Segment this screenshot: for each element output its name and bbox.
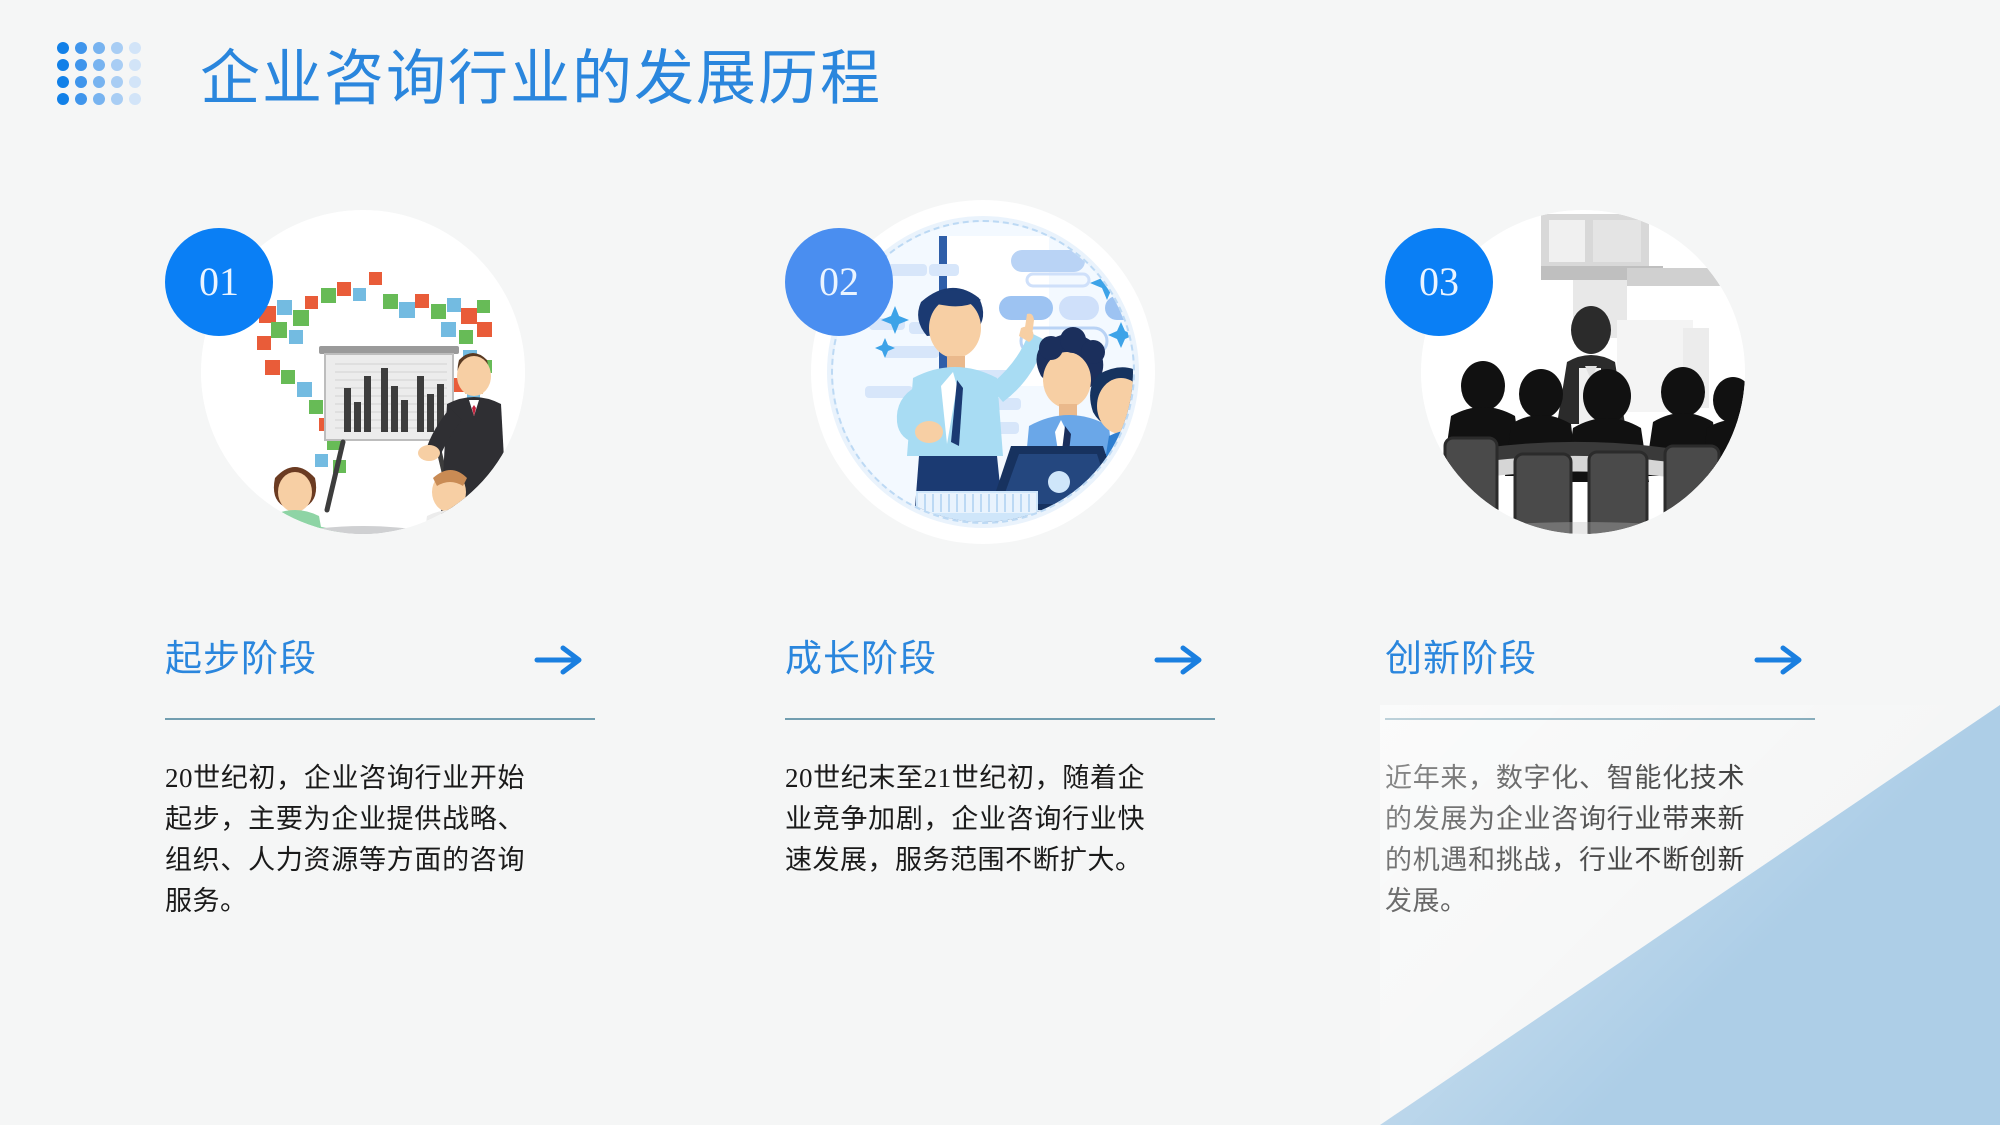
- card-title: 创新阶段: [1385, 637, 1537, 683]
- stage-card: 03 创新阶段 近年来，数字化、智能化技术的发展为企业咨询行业带来新的机遇和挑战…: [1385, 210, 1855, 922]
- card-media: 03: [1385, 210, 1745, 570]
- card-number-badge: 01: [165, 228, 273, 336]
- stage-card: 01 起步阶段 20世纪初，企业咨询行业开始起步，主要为企业提供战略、组织、人力…: [165, 210, 635, 922]
- page-title: 企业咨询行业的发展历程: [200, 44, 882, 114]
- card-title-row: 成长阶段: [785, 632, 1205, 688]
- arrow-right-icon[interactable]: [533, 643, 585, 677]
- card-divider: [785, 718, 1215, 720]
- arrow-right-icon[interactable]: [1153, 643, 1205, 677]
- card-divider: [165, 718, 595, 720]
- dot-grid-decoration: [57, 42, 147, 110]
- card-number-badge: 03: [1385, 228, 1493, 336]
- stage-card: 02 成长阶段 20世纪末至21世纪初，随着企业竞争加剧，企业咨询行业快速发展，…: [785, 210, 1255, 881]
- page-header: 企业咨询行业的发展历程: [0, 0, 2000, 160]
- card-body-text: 20世纪初，企业咨询行业开始起步，主要为企业提供战略、组织、人力资源等方面的咨询…: [165, 758, 525, 922]
- arrow-right-icon[interactable]: [1753, 643, 1805, 677]
- card-body-text: 20世纪末至21世纪初，随着企业竞争加剧，企业咨询行业快速发展，服务范围不断扩大…: [785, 758, 1145, 881]
- card-title: 成长阶段: [785, 637, 937, 683]
- card-media: 02: [785, 210, 1145, 570]
- card-body-text: 近年来，数字化、智能化技术的发展为企业咨询行业带来新的机遇和挑战，行业不断创新发…: [1385, 758, 1745, 922]
- card-title: 起步阶段: [165, 637, 317, 683]
- card-number-badge: 02: [785, 228, 893, 336]
- stage-card-list: 01 起步阶段 20世纪初，企业咨询行业开始起步，主要为企业提供战略、组织、人力…: [0, 210, 2000, 970]
- card-divider: [1385, 718, 1815, 720]
- card-media: 01: [165, 210, 525, 570]
- card-title-row: 创新阶段: [1385, 632, 1805, 688]
- card-title-row: 起步阶段: [165, 632, 585, 688]
